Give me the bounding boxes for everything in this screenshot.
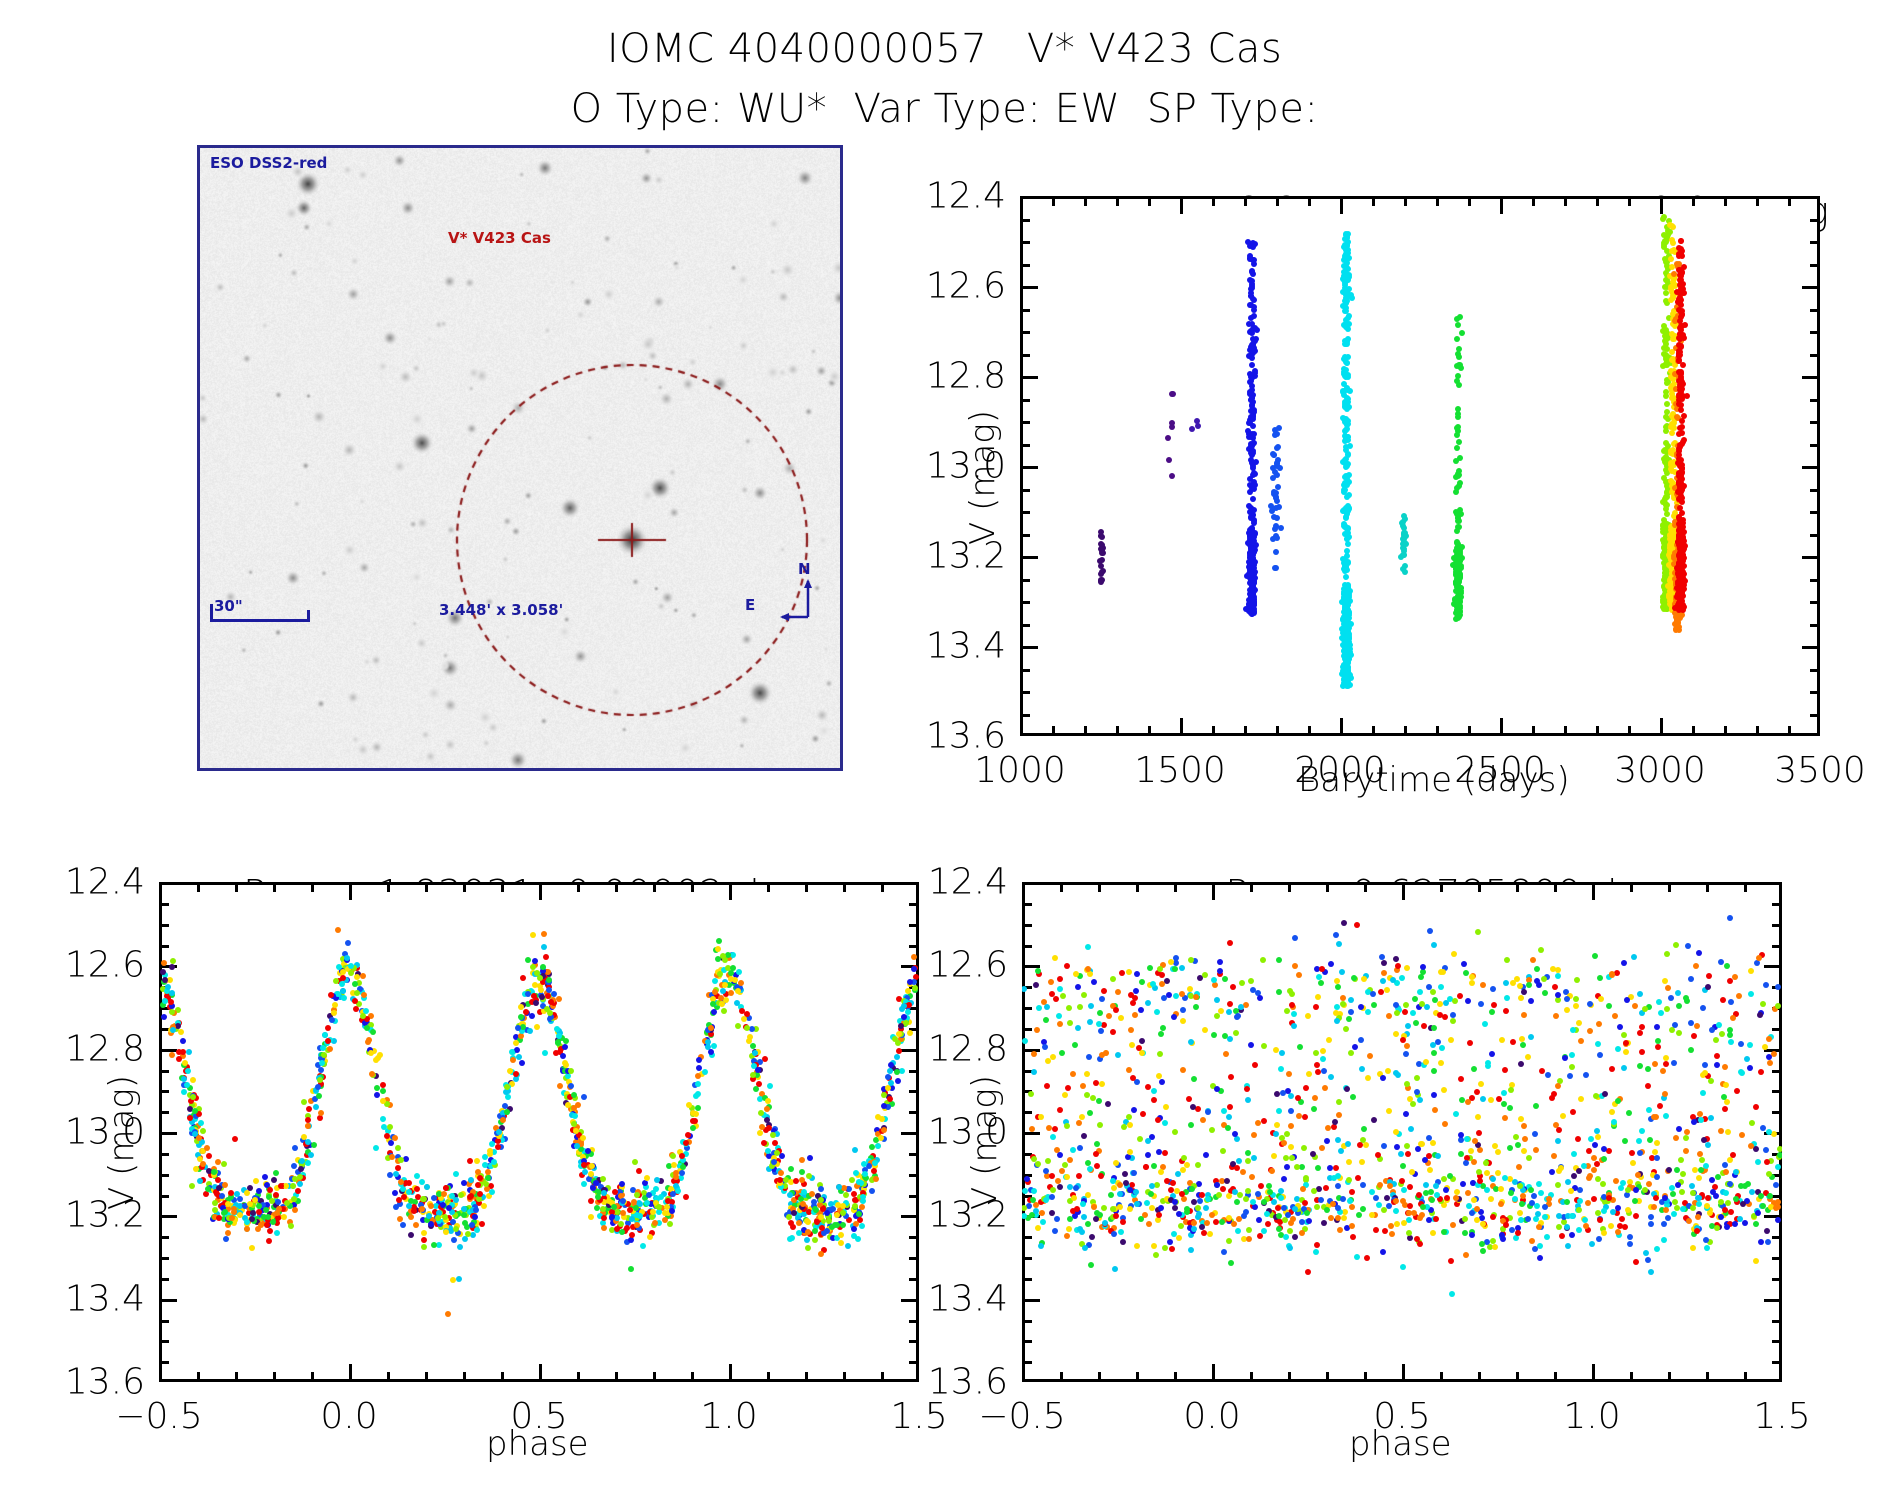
field-size-label: 3.448' x 3.058' xyxy=(439,601,563,619)
lightcurve-y-axis-label: V (mag) xyxy=(963,410,1003,545)
survey-label: ESO DSS2-red xyxy=(210,154,327,172)
y-tick-label: 13.6 xyxy=(926,716,1006,757)
y-tick-label: 12.6 xyxy=(65,945,145,986)
figure-title-line-1: IOMC 4040000057 V* V423 Cas xyxy=(0,26,1889,72)
phase-omc-x-axis-label: phase xyxy=(486,1424,589,1464)
scale-bar-tick-left xyxy=(210,604,213,622)
x-tick-label: 0.0 xyxy=(320,1396,377,1437)
y-tick-label: 12.8 xyxy=(926,356,1006,397)
y-tick-label: 12.6 xyxy=(926,266,1006,307)
scale-bar-tick-right xyxy=(307,610,310,622)
compass-arrows-svg xyxy=(760,573,830,623)
scale-bar-line xyxy=(210,619,310,622)
figure-title-line-2: O Type: WU* Var Type: EW SP Type: xyxy=(0,86,1889,132)
compass-east-label: E xyxy=(745,596,755,614)
y-tick-label: 13.4 xyxy=(65,1278,145,1319)
x-tick-label: 1500 xyxy=(1134,750,1226,791)
x-tick-label: 1.0 xyxy=(700,1396,757,1437)
y-tick-label: 12.4 xyxy=(65,862,145,903)
x-tick-label: 3500 xyxy=(1774,750,1866,791)
object-annotation-label: V* V423 Cas xyxy=(448,229,551,247)
y-tick-label: 12.8 xyxy=(65,1028,145,1069)
lightcurve-y-tick-labels: 12.412.612.813.013.213.413.6 xyxy=(1020,196,1820,736)
y-tick-label: 12.4 xyxy=(926,176,1006,217)
sky-image-panel: ESO DSS2-red V* V423 Cas 30" 3.448' x 3.… xyxy=(197,145,843,771)
y-tick-label: 13.6 xyxy=(65,1362,145,1403)
y-tick-label: 13.4 xyxy=(926,626,1006,667)
phase-omc-y-axis-label: V (mag) xyxy=(102,1075,142,1210)
figure-page: IOMC 4040000057 V* V423 Cas O Type: WU* … xyxy=(0,0,1889,1494)
x-tick-label: 3000 xyxy=(1614,750,1706,791)
phase-omc-y-tick-labels: 12.412.612.813.013.213.413.6 xyxy=(159,882,919,1382)
compass-icon xyxy=(760,573,830,623)
scale-bar-label: 30" xyxy=(214,597,243,615)
lightcurve-x-axis-label: Barytime (days) xyxy=(1298,760,1570,800)
